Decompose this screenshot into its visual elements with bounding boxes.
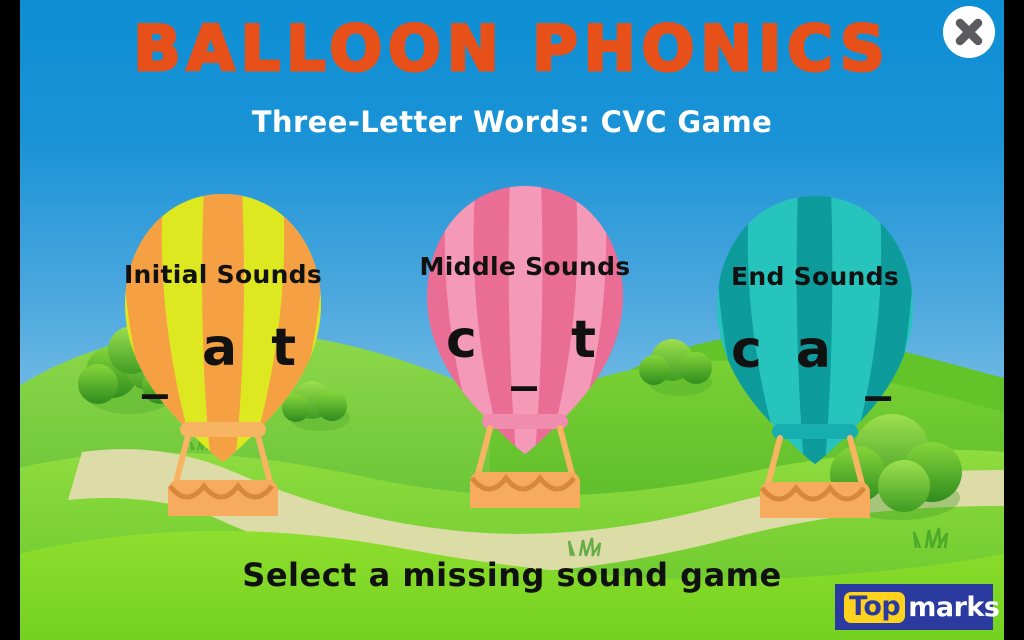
screen: BALLOON PHONICS Three-Letter Words: CVC …	[0, 0, 1024, 640]
topmarks-logo[interactable]: Top marks	[835, 584, 993, 630]
balloon-graphic	[108, 186, 338, 516]
close-icon	[943, 6, 995, 58]
balloon-basket	[470, 472, 580, 508]
balloon-option-initial-sounds[interactable]: Initial Sounds _ a t	[108, 186, 338, 516]
page-subtitle: Three-Letter Words: CVC Game	[20, 105, 1004, 139]
page-title-text: BALLOON PHONICS	[133, 18, 890, 80]
page-title: BALLOON PHONICS	[20, 18, 1004, 80]
balloon-bar	[772, 424, 858, 439]
game-canvas: BALLOON PHONICS Three-Letter Words: CVC …	[20, 0, 1004, 640]
balloon-option-middle-sounds[interactable]: Middle Sounds c _ t	[410, 178, 640, 508]
balloon-graphic	[410, 178, 640, 508]
logo-marks-text: marks	[905, 594, 999, 621]
logo-top-text: Top	[844, 592, 905, 623]
balloon-option-end-sounds[interactable]: End Sounds c a _	[700, 188, 930, 518]
close-button[interactable]	[943, 6, 995, 58]
balloon-graphic	[700, 188, 930, 518]
balloon-bar	[180, 422, 266, 437]
balloon-basket	[760, 482, 870, 518]
balloon-bar	[482, 414, 568, 429]
balloon-basket	[168, 480, 278, 516]
